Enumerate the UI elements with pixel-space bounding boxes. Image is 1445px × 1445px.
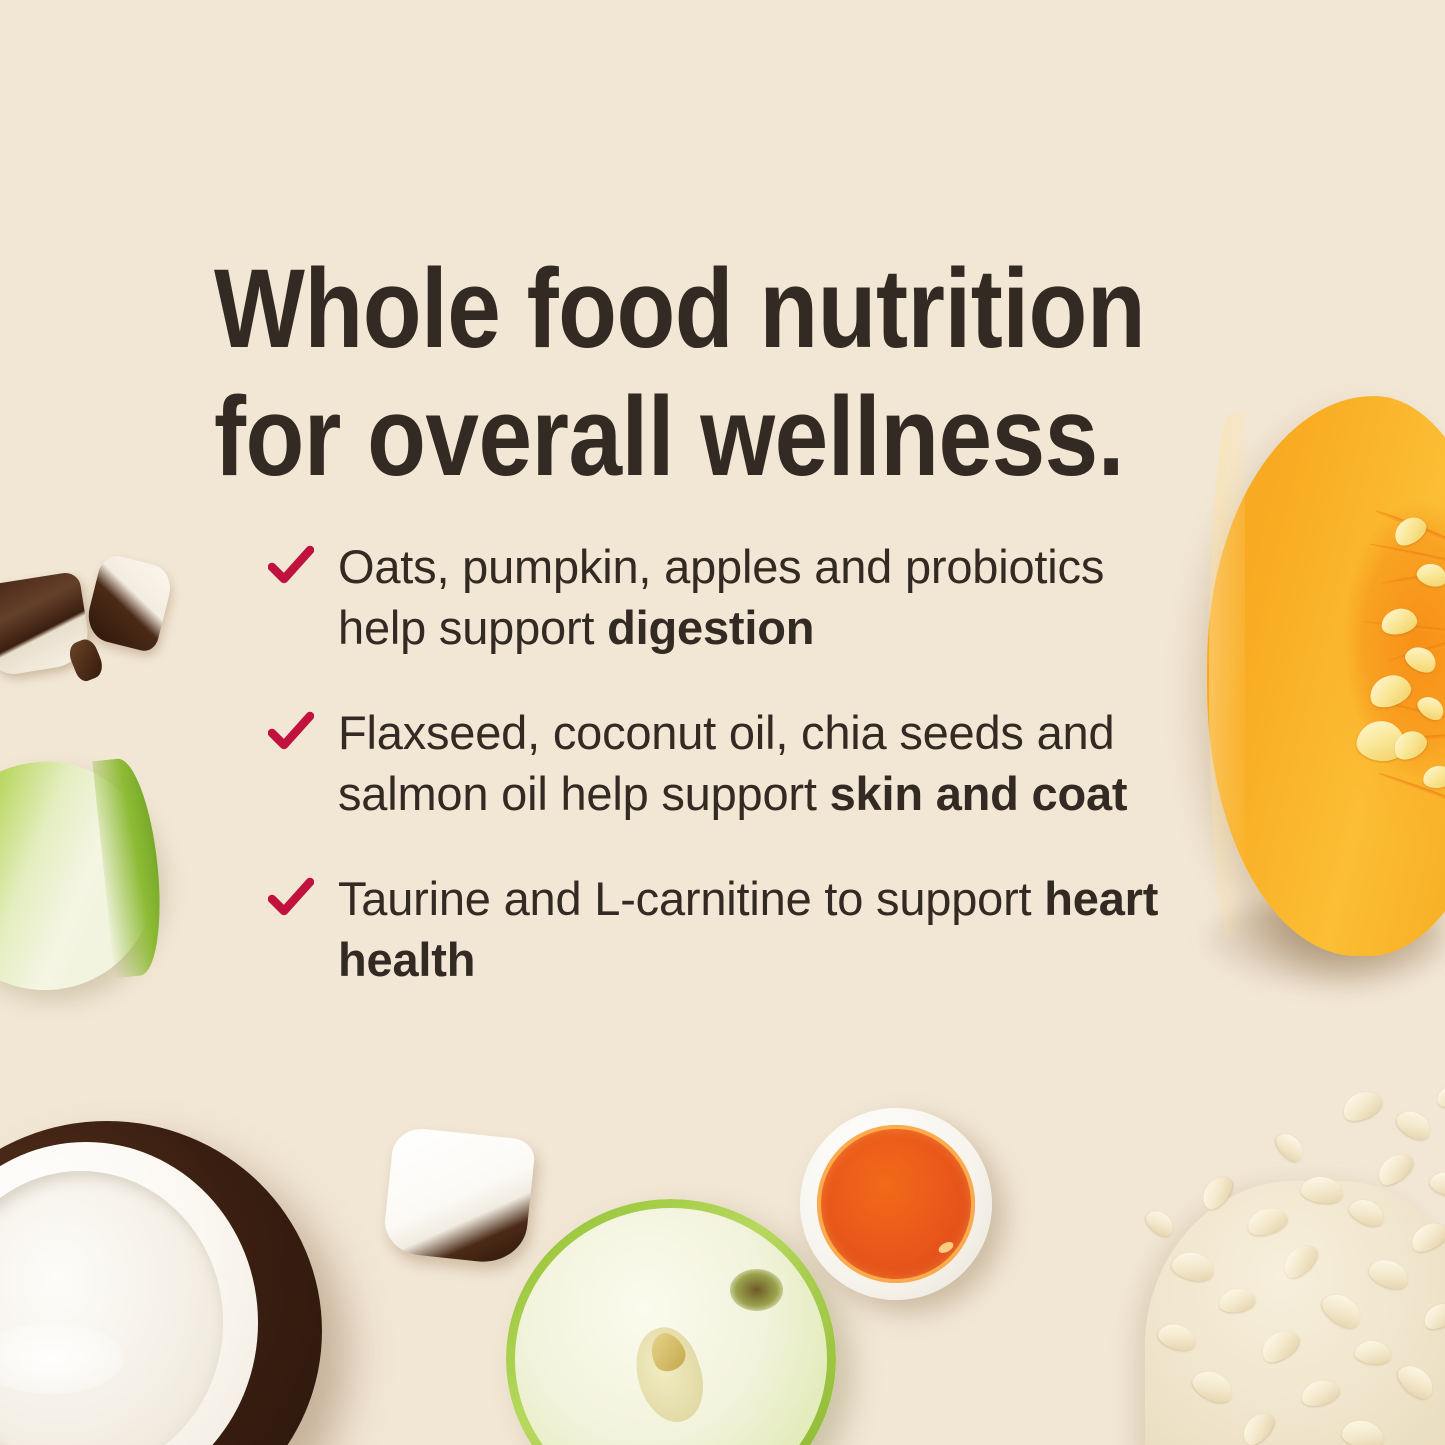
coconut-chunk-image <box>66 636 107 684</box>
apple-half-stem-well <box>730 1269 783 1311</box>
green-apple-half-image <box>506 1199 836 1445</box>
list-item: Flaxseed, coconut oil, chia seeds and sa… <box>268 702 1198 824</box>
apple-slice-notch <box>0 849 4 948</box>
headline-line-2: for overall wellness. <box>214 373 1108 501</box>
list-item-emphasis: digestion <box>607 601 814 654</box>
apple-half-core <box>625 1320 714 1431</box>
list-item: Oats, pumpkin, apples and probiotics hel… <box>268 536 1198 658</box>
oats-pile <box>1145 1181 1445 1445</box>
apple-half-seed <box>644 1328 690 1377</box>
salmon-oil-bowl-image <box>800 1108 992 1300</box>
check-icon <box>268 711 314 757</box>
oil-rim-highlight <box>817 1125 974 1282</box>
coconut-meat <box>0 1142 258 1445</box>
apple-half-skin <box>506 1199 836 1445</box>
pumpkin-cavity <box>1339 452 1445 799</box>
coconut-chunk-image <box>0 571 93 678</box>
coconut-piece-image <box>382 1126 536 1266</box>
oil-bowl-dish <box>800 1108 992 1300</box>
list-item-emphasis: skin and coat <box>830 767 1128 820</box>
list-item-text: Taurine and L-carnitine to support heart… <box>338 868 1198 990</box>
oil-surface <box>817 1125 974 1282</box>
list-item-text: Oats, pumpkin, apples and probiotics hel… <box>338 536 1198 658</box>
list-item-text: Flaxseed, coconut oil, chia seeds and sa… <box>338 702 1198 824</box>
oil-glint <box>936 1240 954 1255</box>
headline-line-1: Whole food nutrition <box>214 245 1108 373</box>
apple-slice-skin <box>92 755 169 978</box>
rolled-oats-image <box>1131 1077 1445 1445</box>
pumpkin-rind-highlight <box>1209 413 1245 939</box>
list-item: Taurine and L-carnitine to support heart… <box>268 868 1198 990</box>
list-item-lead: Taurine and L-carnitine to support <box>338 872 1044 925</box>
pumpkin-flesh <box>1207 396 1445 956</box>
check-icon <box>268 877 314 923</box>
coconut-husk <box>0 1121 322 1445</box>
benefit-list: Oats, pumpkin, apples and probiotics hel… <box>268 536 1198 991</box>
promo-banner: Whole food nutrition for overall wellnes… <box>0 0 1445 1445</box>
coconut-half-image <box>0 1121 322 1445</box>
pumpkin-shadow <box>1201 898 1445 990</box>
apple-half-flesh <box>506 1199 836 1445</box>
coconut-bowl <box>0 1171 223 1445</box>
apple-slice-flesh <box>0 751 167 1001</box>
coconut-gloss <box>0 1323 124 1394</box>
coconut-chunk-image <box>83 552 176 653</box>
page-headline: Whole food nutrition for overall wellnes… <box>214 245 1108 500</box>
check-icon <box>268 545 314 591</box>
green-apple-slice-image <box>0 751 167 1001</box>
pumpkin-half-image <box>1207 396 1445 956</box>
